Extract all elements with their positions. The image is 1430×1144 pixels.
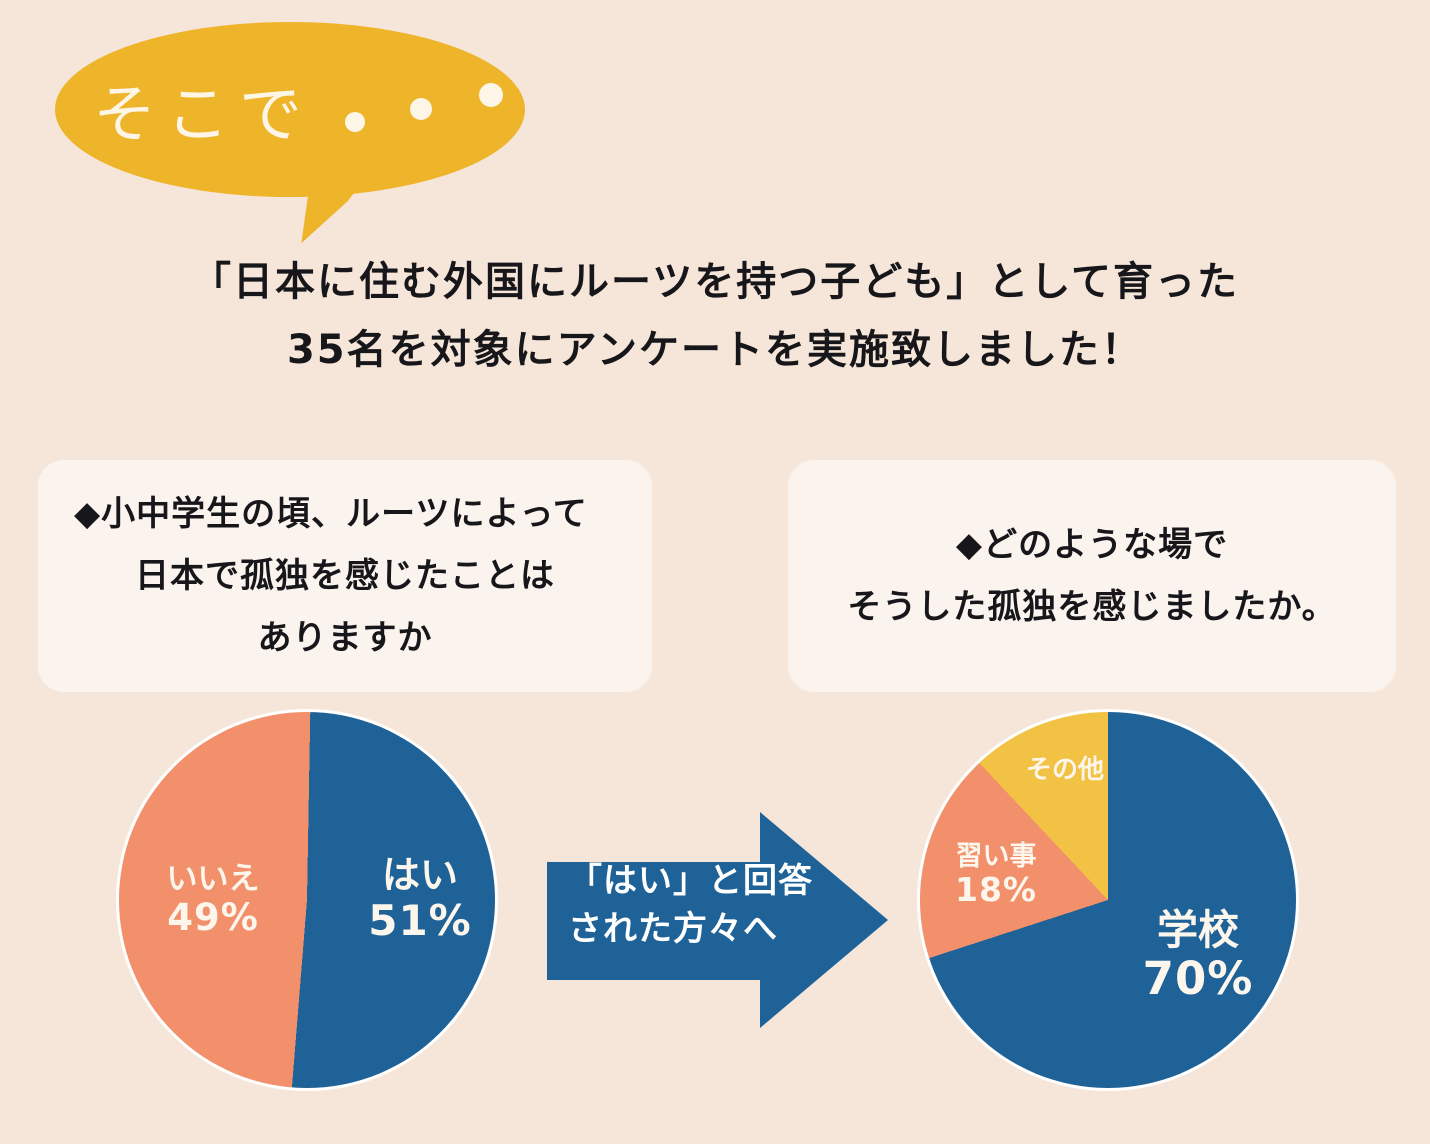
pie-chart-loneliness [119, 712, 495, 1088]
question-card-right: ◆どのような場で そうした孤独を感じましたか。 [788, 460, 1396, 692]
ellipsis-dot-icon [345, 112, 365, 132]
flow-arrow-line-2: された方々へ [568, 905, 813, 953]
question-left-line-3: ありますか [62, 607, 628, 669]
infographic-canvas: そこで 「日本に住む外国にルーツを持つ子ども」として育った 35名を対象にアンケ… [0, 0, 1430, 1144]
question-left-line-2: 日本で孤独を感じたことは [62, 545, 628, 607]
speech-bubble: そこで [55, 22, 535, 232]
ellipsis-dot-icon [479, 83, 503, 107]
page-title: 「日本に住む外国にルーツを持つ子ども」として育った 35名を対象にアンケートを実… [0, 248, 1430, 384]
flow-arrow-text: 「はい」と回答 された方々へ [568, 857, 813, 953]
pie-chart-place [920, 712, 1296, 1088]
question-left-line-1: ◆小中学生の頃、ルーツによって [62, 483, 628, 545]
page-title-line-2: 35名を対象にアンケートを実施致しました！ [0, 316, 1430, 384]
question-right-line-2: そうした孤独を感じましたか。 [806, 576, 1378, 638]
question-right-line-1: ◆どのような場で [806, 514, 1378, 576]
page-title-line-1: 「日本に住む外国にルーツを持つ子ども」として育った [0, 248, 1430, 316]
flow-arrow-line-1: 「はい」と回答 [568, 857, 813, 905]
flow-arrow: 「はい」と回答 された方々へ [540, 805, 895, 1035]
speech-bubble-text: そこで [93, 64, 312, 155]
question-card-left: ◆小中学生の頃、ルーツによって 日本で孤独を感じたことは ありますか [38, 460, 652, 692]
ellipsis-dot-icon [410, 98, 432, 120]
